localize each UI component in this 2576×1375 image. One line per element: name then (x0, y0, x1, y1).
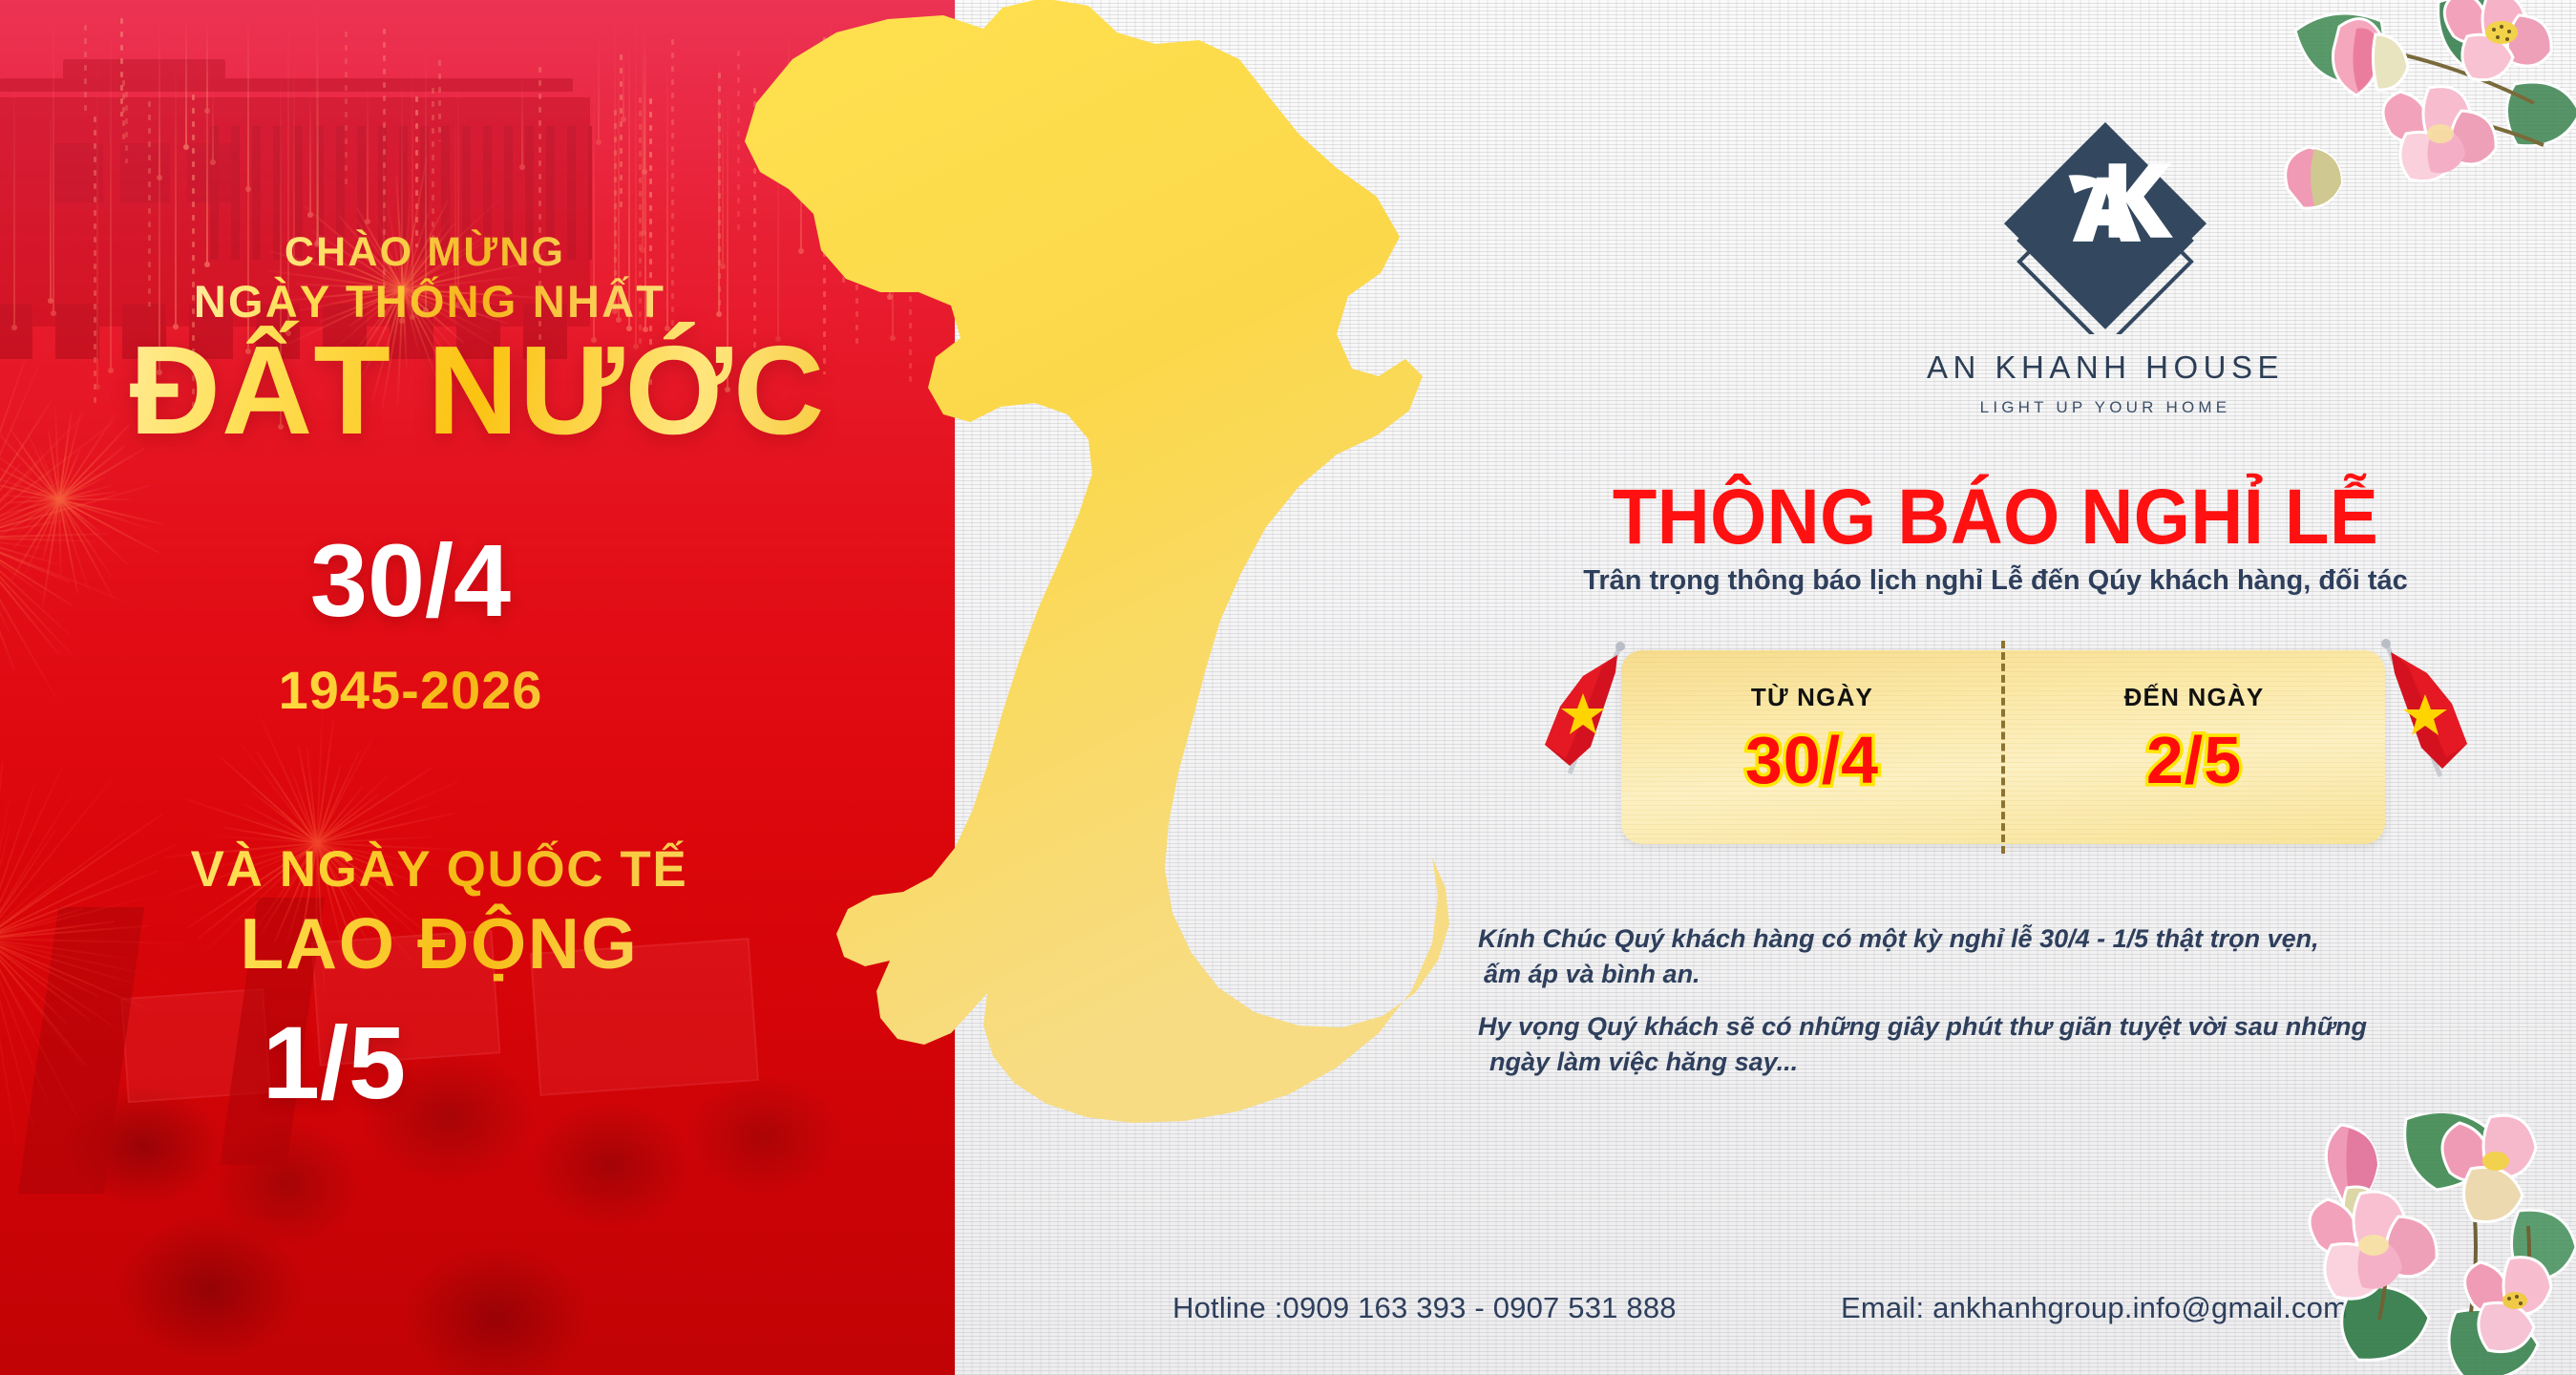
to-date: 2/5 (2003, 722, 2385, 798)
country-text: ĐẤT NƯỚC (38, 320, 917, 461)
notice-subheadline: Trân trọng thông báo lịch nghỉ Lễ đến Qú… (1475, 565, 2516, 597)
left-headline-group: CHÀO MỪNG NGÀY THỐNG NHẤT ĐẤT NƯỚC 30/4 … (0, 0, 955, 1375)
brand-name: AN KHANH HOUSE (1905, 349, 2306, 386)
email-text[interactable]: Email: ankhanhgroup.info@gmail.com (1841, 1291, 2348, 1325)
brand-tagline: LIGHT UP YOUR HOME (1905, 398, 2306, 417)
holiday-announcement-banner: CHÀO MỪNG NGÀY THỐNG NHẤT ĐẤT NƯỚC 30/4 … (0, 0, 2576, 1375)
hotline-text[interactable]: Hotline :0909 163 393 - 0907 531 888 (1172, 1291, 1677, 1325)
message-line-2: ấm áp và bình an. (1478, 957, 2519, 992)
message-line-3: Hy vọng Quý khách sẽ có những giây phút … (1478, 1012, 2367, 1041)
message-line-1: Kính Chúc Quý khách hàng có một kỳ nghỉ … (1478, 924, 2319, 953)
notice-headline: THÔNG BÁO NGHỈ LỄ (1475, 473, 2516, 562)
years-range-text: 1945-2026 (115, 659, 707, 721)
ticket-to-half: ĐẾN NGÀY 2/5 (2003, 650, 2385, 844)
ticket-from-half: TỪ NGÀY 30/4 (1621, 650, 2003, 844)
ticket-dashed-divider (2001, 641, 2005, 854)
lotus-flower-top-right-icon (2276, 0, 2576, 250)
holiday-date-card: TỪ NGÀY 30/4 ĐẾN NGÀY 2/5 (1621, 650, 2385, 844)
from-date: 30/4 (1621, 722, 2003, 798)
lotus-flower-bottom-right-icon (2293, 1113, 2576, 1375)
holiday-message-paragraph: Kính Chúc Quý khách hàng có một kỳ nghỉ … (1478, 921, 2519, 1080)
message-line-4: ngày làm việc hăng say... (1478, 1045, 2519, 1080)
date-main-text: 30/4 (115, 520, 707, 640)
from-label: TỪ NGÀY (1621, 683, 2003, 712)
labor-day-text: LAO ĐỘNG (38, 902, 840, 984)
and-international-text: VÀ NGÀY QUỐC TẾ (57, 840, 821, 899)
welcome-text: CHÀO MỪNG (177, 229, 673, 276)
date-labor-text: 1/5 (57, 1003, 611, 1122)
brand-logo-block: AN KHANH HOUSE LIGHT UP YOUR HOME (1905, 115, 2306, 417)
ak-diamond-logo-icon (1995, 115, 2215, 334)
to-label: ĐẾN NGÀY (2003, 683, 2385, 712)
